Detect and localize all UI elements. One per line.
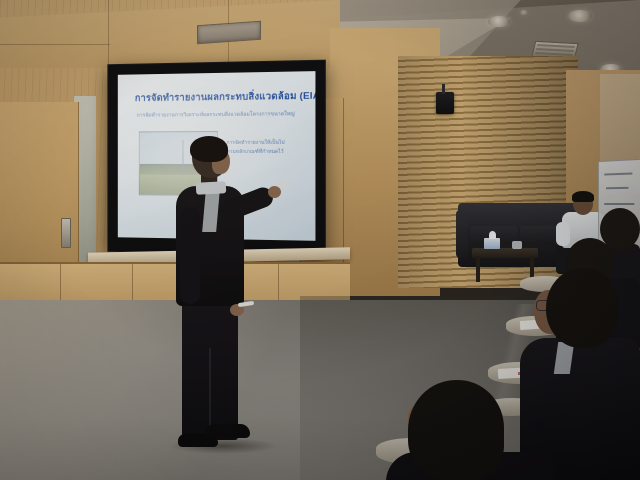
presenter-collar	[196, 181, 227, 195]
slide-title: การจัดทำรายงานผลกระทบสิ่งแวดล้อม (EIA)	[135, 88, 307, 105]
tissue-sheet-icon	[489, 231, 496, 239]
wall-speaker-bracket	[442, 84, 445, 94]
slide-subtitle: การจัดทำรายงานการวิเคราะห์ผลกระทบสิ่งแวด…	[137, 110, 303, 120]
coffee-table[interactable]	[472, 248, 538, 258]
seated-man-hair	[572, 191, 594, 202]
tissue-box[interactable]	[484, 238, 500, 249]
flipchart-mark	[606, 187, 628, 189]
presenter-remote-icon	[238, 301, 254, 307]
seminar-room-photo: การจัดทำรายงานผลกระทบสิ่งแวดล้อม (EIA) ก…	[0, 0, 640, 480]
presenter	[168, 138, 260, 468]
presenter-left-arm	[180, 208, 200, 304]
flipchart-mark	[604, 172, 632, 175]
presenter-shoe	[206, 424, 250, 438]
seated-man-arm	[556, 222, 570, 246]
door-handle-icon[interactable]	[61, 218, 71, 248]
attendee-glasses-head	[546, 268, 618, 348]
downlight-icon	[488, 16, 510, 27]
wall-speaker-icon	[436, 92, 454, 114]
sofa-arm	[456, 210, 468, 258]
presenter-right-hand	[268, 186, 281, 198]
presenter-hair	[190, 136, 228, 162]
attendee-front-head	[408, 380, 504, 480]
wall-seam	[0, 44, 110, 45]
downlight-icon	[520, 10, 528, 15]
table-leg	[476, 256, 480, 282]
table-object[interactable]	[512, 241, 522, 249]
flipchart-mark	[604, 203, 634, 205]
downlight-icon	[568, 10, 592, 22]
